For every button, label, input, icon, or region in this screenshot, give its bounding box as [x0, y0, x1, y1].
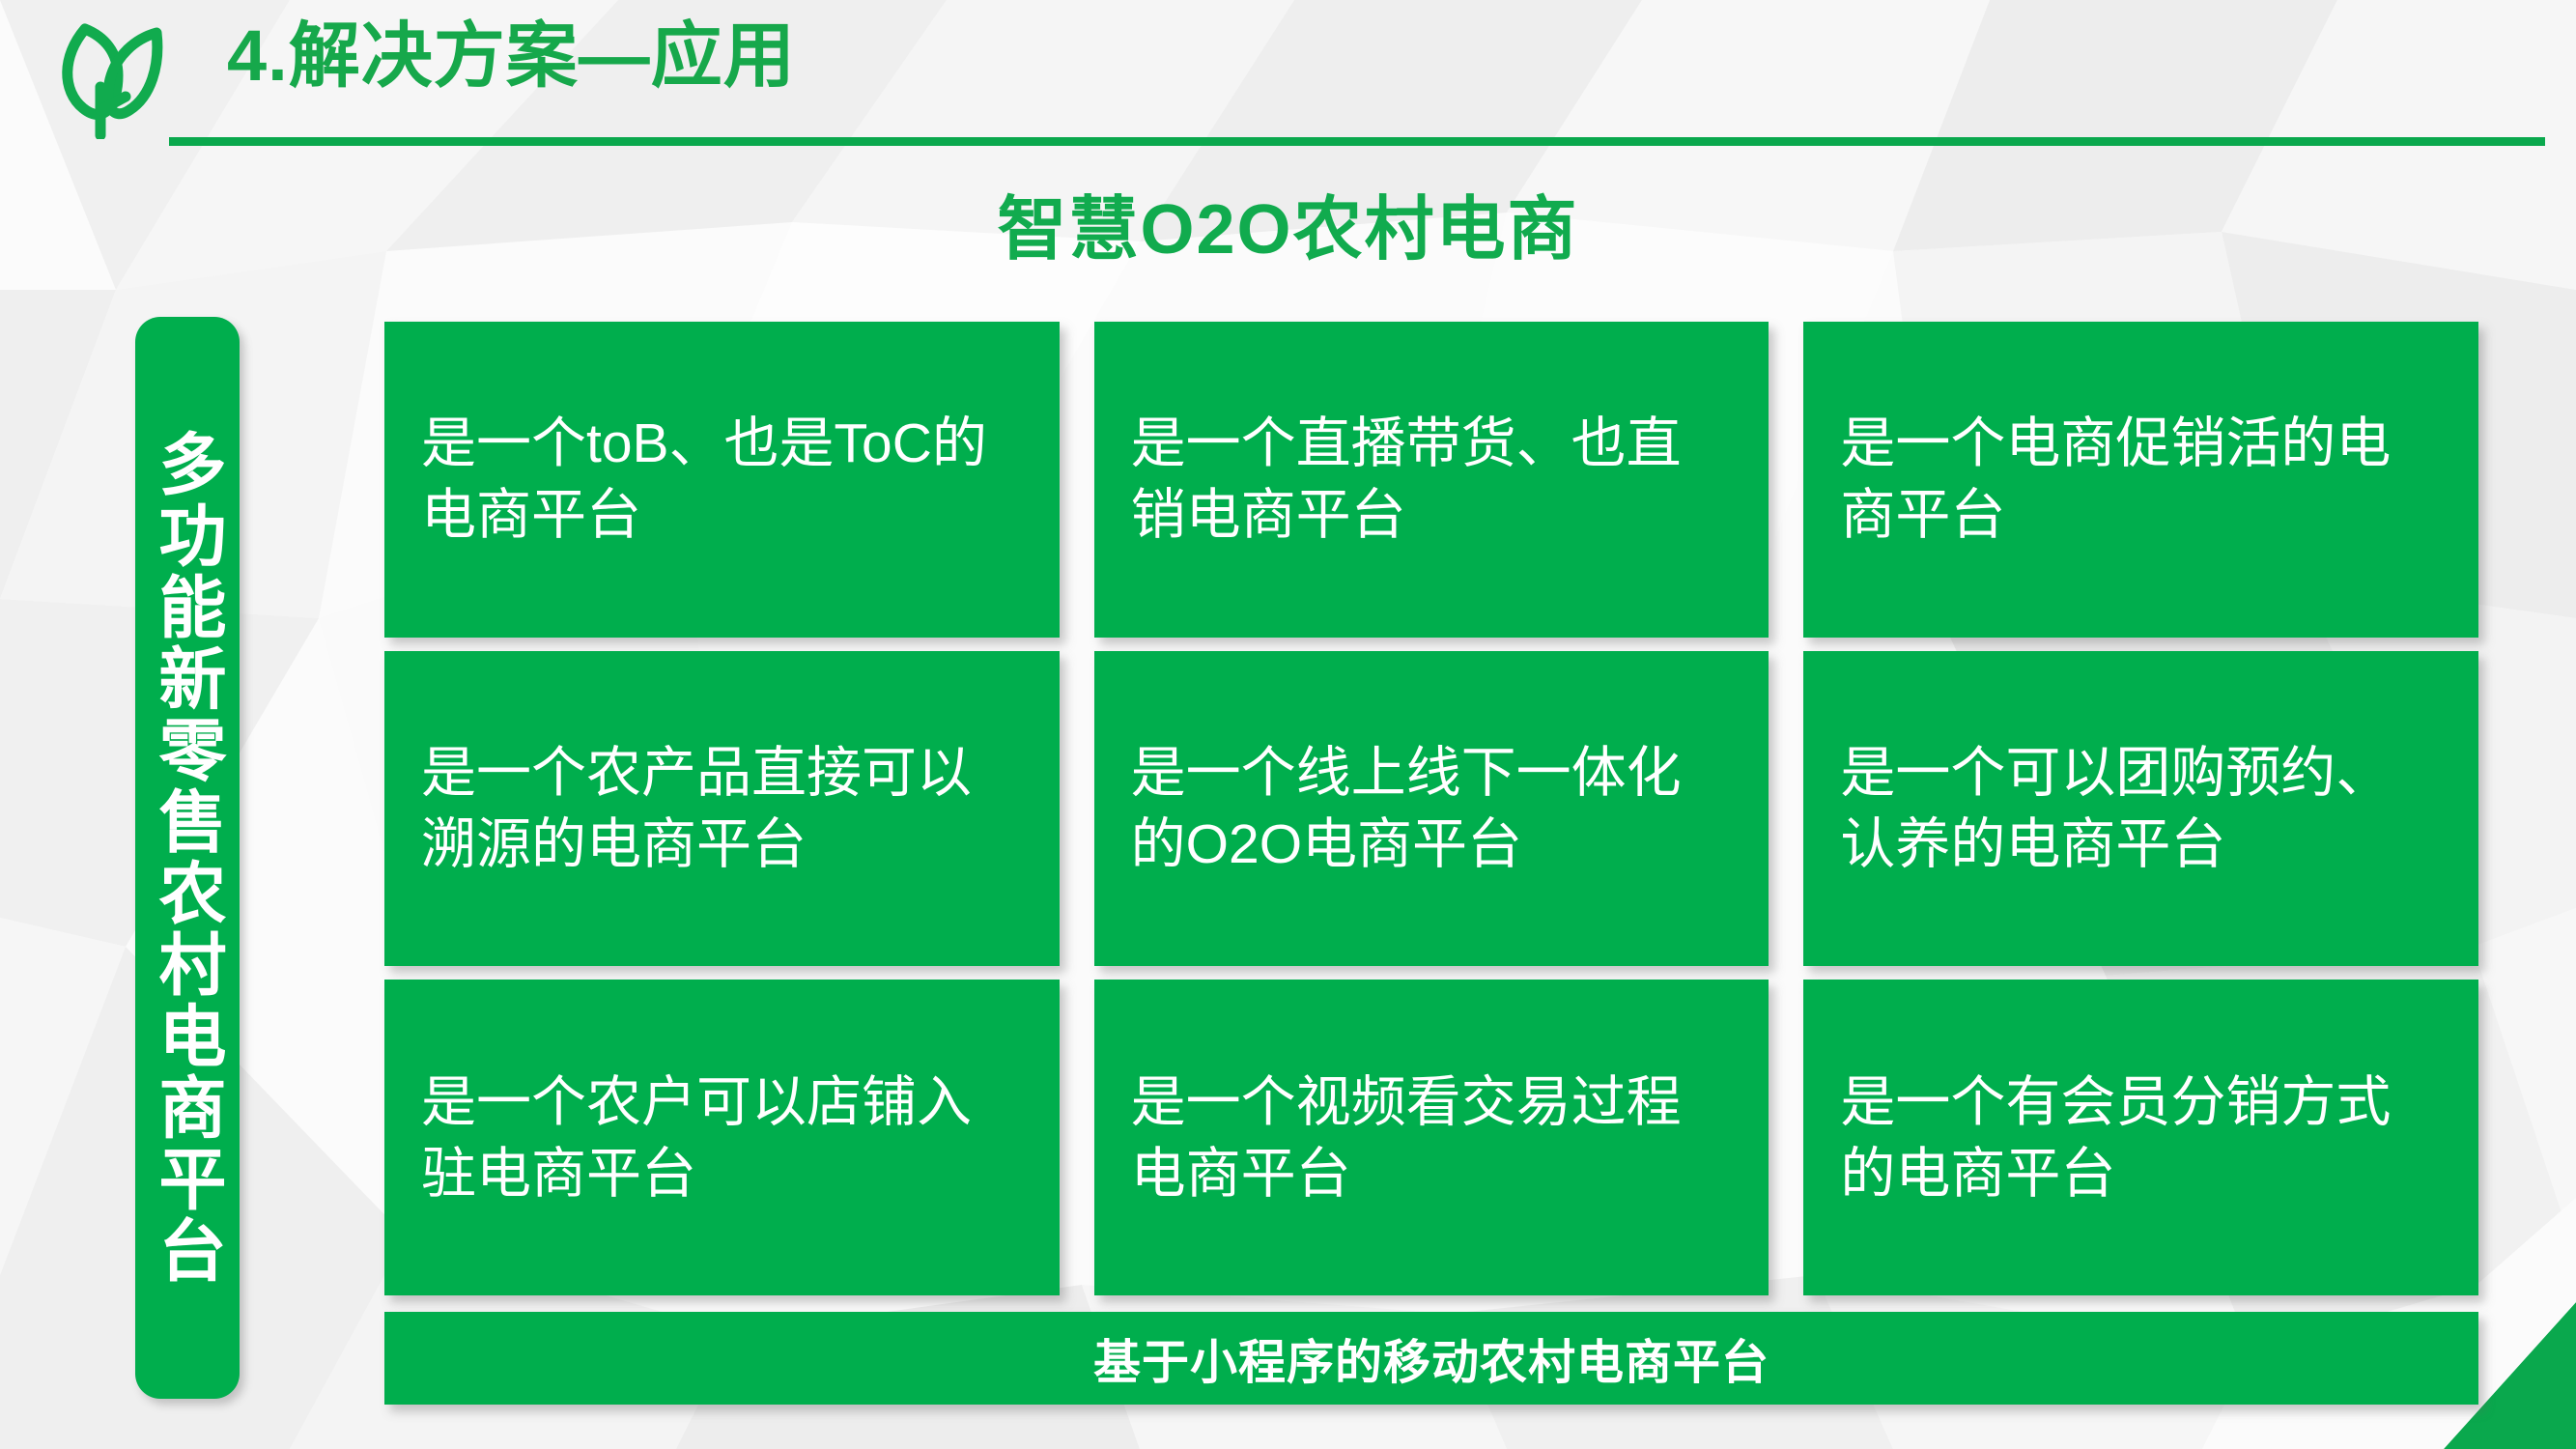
feature-card-text: 是一个农户可以店铺入驻电商平台	[421, 1066, 1023, 1209]
feature-card[interactable]: 是一个农户可以店铺入驻电商平台	[384, 980, 1060, 1295]
feature-card-text: 是一个农产品直接可以溯源的电商平台	[421, 737, 1023, 880]
feature-card-text: 是一个有会员分销方式的电商平台	[1840, 1066, 2442, 1209]
feature-card-text: 是一个电商促销活的电商平台	[1840, 408, 2442, 551]
feature-card-grid: 是一个toB、也是ToC的电商平台 是一个直播带货、也直销电商平台 是一个电商促…	[384, 322, 2478, 1295]
feature-card[interactable]: 是一个toB、也是ToC的电商平台	[384, 322, 1060, 638]
main-title: 智慧O2O农村电商	[0, 172, 2576, 273]
slide-root: { "header": { "title": "4.解决方案—应用", "ico…	[0, 0, 2576, 1449]
leaf-icon	[44, 12, 172, 139]
feature-card[interactable]: 是一个直播带货、也直销电商平台	[1094, 322, 1769, 638]
feature-card[interactable]: 是一个农产品直接可以溯源的电商平台	[384, 651, 1060, 967]
vertical-category-label: 多功能新零售农村电商平台	[154, 429, 221, 1287]
feature-card-text: 是一个toB、也是ToC的电商平台	[421, 408, 1023, 551]
page-title: 4.解决方案—应用	[227, 14, 796, 97]
footer-banner[interactable]: 基于小程序的移动农村电商平台	[384, 1312, 2478, 1405]
footer-banner-text: 基于小程序的移动农村电商平台	[1093, 1324, 1769, 1393]
feature-card-text: 是一个直播带货、也直销电商平台	[1131, 408, 1733, 551]
feature-card[interactable]: 是一个有会员分销方式的电商平台	[1803, 980, 2478, 1295]
feature-card[interactable]: 是一个电商促销活的电商平台	[1803, 322, 2478, 638]
feature-card-text: 是一个可以团购预约、认养的电商平台	[1840, 737, 2442, 880]
feature-card[interactable]: 是一个视频看交易过程电商平台	[1094, 980, 1769, 1295]
header-divider	[169, 137, 2545, 146]
feature-card[interactable]: 是一个可以团购预约、认养的电商平台	[1803, 651, 2478, 967]
feature-card-text: 是一个线上线下一体化的O2O电商平台	[1131, 737, 1733, 880]
vertical-category-bar: 多功能新零售农村电商平台	[135, 317, 240, 1399]
feature-card[interactable]: 是一个线上线下一体化的O2O电商平台	[1094, 651, 1769, 967]
feature-card-text: 是一个视频看交易过程电商平台	[1131, 1066, 1733, 1209]
